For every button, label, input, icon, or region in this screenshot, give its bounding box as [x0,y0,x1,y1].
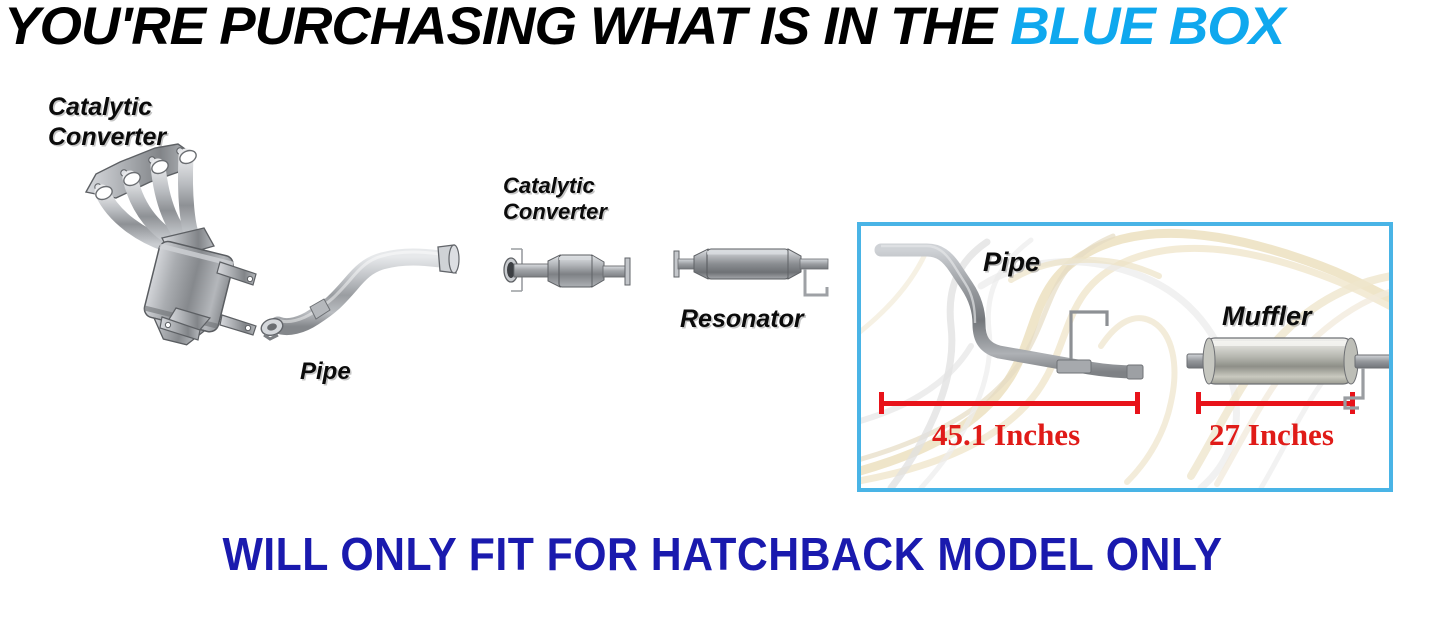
label-catalytic-converter-second: Catalytic Converter [503,173,607,225]
label-rear-pipe: Pipe [983,247,1040,278]
catalytic-converter-manifold-image [80,140,280,335]
label-line-1: Catalytic [48,92,166,122]
label-front-pipe: Pipe [300,358,351,386]
muffler-image [1187,326,1393,436]
front-pipe-image [258,243,468,343]
product-listing-graphic: YOU'RE PURCHASING WHAT IS IN THE BLUE BO… [0,0,1445,619]
label-line-2: Converter [503,199,607,225]
dimension-label-pipe: 45.1 Inches [932,417,1080,453]
headline-text-black: YOU'RE PURCHASING WHAT IS IN THE [4,0,1010,56]
headline-banner: YOU'RE PURCHASING WHAT IS IN THE BLUE BO… [0,0,1445,58]
fitment-notice: WILL ONLY FIT FOR HATCHBACK MODEL ONLY [51,524,1395,584]
label-muffler: Muffler [1222,301,1312,332]
label-resonator: Resonator [680,305,804,334]
catalytic-converter-second-image [498,243,643,301]
headline-text-blue: BLUE BOX [1010,0,1284,56]
label-line-1: Catalytic [503,173,607,199]
resonator-image [672,243,847,308]
